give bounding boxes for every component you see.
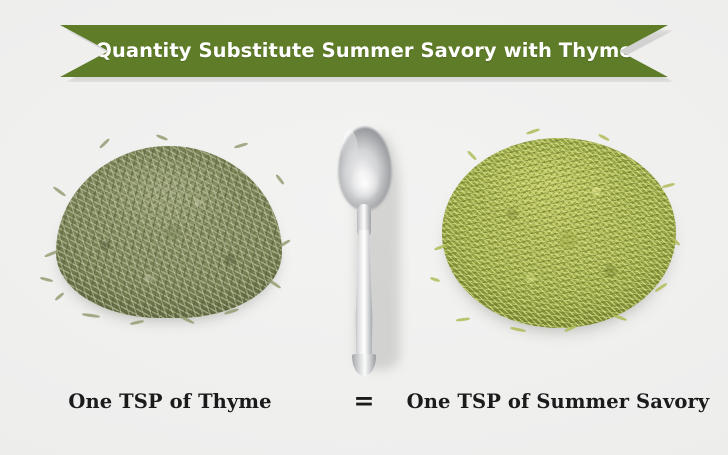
title-banner: Quantity Substitute Summer Savory with T…: [60, 25, 668, 77]
right-quantity-label: One TSP of Summer Savory: [388, 390, 728, 413]
savory-stray-leaf: [467, 150, 477, 161]
savory-stray-leaf: [612, 314, 627, 322]
thyme-stray-leaf: [130, 320, 144, 326]
thyme-stray-leaf: [99, 138, 110, 149]
savory-stray-leaf: [456, 317, 470, 322]
thyme-stray-leaf: [234, 142, 248, 149]
savory-texture-layer-3: [442, 138, 676, 328]
thyme-pile-image: [38, 132, 300, 328]
thyme-stray-leaf: [156, 134, 168, 141]
savory-stray-leaf: [662, 182, 675, 188]
thyme-stray-leaf: [40, 276, 53, 282]
thyme-stray-leaf: [53, 186, 67, 197]
spoon-bowl: [338, 126, 392, 210]
savory-stray-leaf: [598, 133, 610, 141]
thyme-stray-leaf: [54, 292, 64, 301]
summer-savory-pile-image: [430, 128, 688, 340]
thyme-mound: [56, 146, 282, 318]
savory-stray-leaf: [430, 277, 440, 283]
savory-stray-leaf: [526, 128, 540, 135]
spoon-image: [330, 122, 400, 372]
thyme-texture-layer-3: [56, 146, 282, 318]
equals-sign: =: [340, 388, 388, 414]
banner-ribbon: Quantity Substitute Summer Savory with T…: [60, 25, 668, 77]
thyme-stray-leaf: [82, 313, 100, 318]
page-title: Quantity Substitute Summer Savory with T…: [95, 39, 633, 63]
savory-stray-leaf: [510, 326, 526, 332]
left-quantity-label: One TSP of Thyme: [0, 390, 340, 413]
savory-mound: [442, 138, 676, 328]
thyme-stray-leaf: [275, 174, 285, 185]
